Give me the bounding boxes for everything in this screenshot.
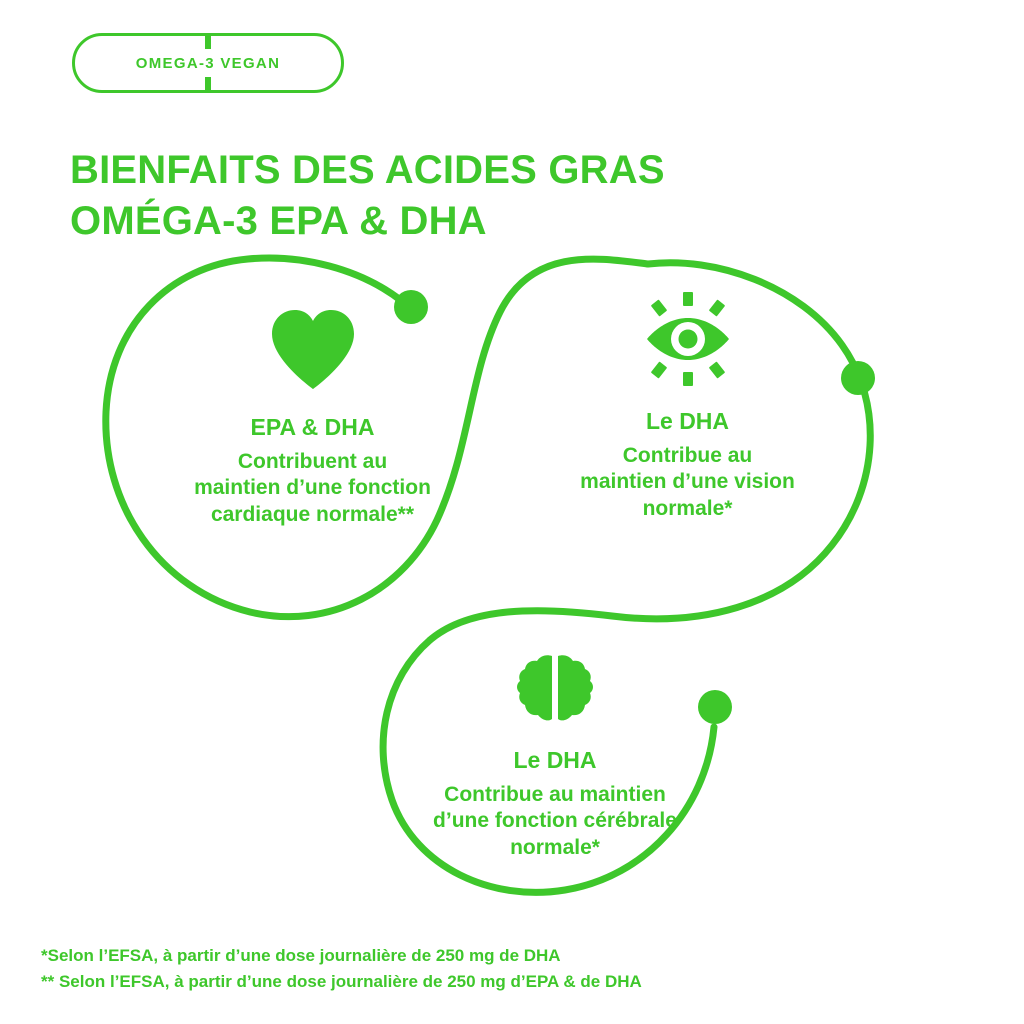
benefit-body-brain: Contribue au maintien d’une fonction cér… — [400, 782, 710, 861]
benefit-body-line-1: Contribue au maintien — [444, 783, 666, 806]
eye-icon-wrap — [540, 288, 835, 388]
eye-icon — [639, 290, 737, 388]
benefit-body-heart: Contribuent au maintien d’une fonction c… — [140, 449, 485, 528]
benefit-card-heart: EPA & DHA Contribuent au maintien d’une … — [140, 300, 485, 528]
brain-icon — [515, 653, 595, 725]
benefit-heading-eye: Le DHA — [540, 408, 835, 436]
benefit-card-brain: Le DHA Contribue au maintien d’une fonct… — [400, 645, 710, 861]
footnotes: *Selon l’EFSA, à partir d’une dose journ… — [41, 943, 642, 994]
benefit-card-eye: Le DHA Contribue au maintien d’une visio… — [540, 288, 835, 522]
benefit-body-line-2: maintien d’une vision — [580, 470, 795, 493]
benefit-body-line-1: Contribue au — [623, 444, 753, 467]
benefit-body-line-3: normale* — [510, 836, 600, 859]
footnote-line-1: *Selon l’EFSA, à partir d’une dose journ… — [41, 943, 642, 969]
heart-icon-wrap — [140, 300, 485, 390]
benefit-body-line-3: normale* — [643, 497, 733, 520]
brain-icon-wrap — [400, 645, 710, 725]
footnote-line-2: ** Selon l’EFSA, à partir d’une dose jou… — [41, 969, 642, 995]
benefit-body-line-1: Contribuent au — [238, 450, 387, 473]
infographic-canvas: OMEGA-3 VEGAN BIENFAITS DES ACIDES GRAS … — [0, 0, 1024, 1024]
benefit-body-line-2: d’une fonction cérébrale — [433, 809, 677, 832]
heart-icon — [268, 308, 358, 390]
benefit-heading-brain: Le DHA — [400, 747, 710, 775]
eye-loop-junction-dot — [841, 361, 875, 395]
benefit-heading-heart: EPA & DHA — [140, 414, 485, 442]
benefit-body-eye: Contribue au maintien d’une vision norma… — [540, 443, 835, 522]
benefit-body-line-3: cardiaque normale** — [211, 503, 414, 526]
benefit-body-line-2: maintien d’une fonction — [194, 476, 431, 499]
